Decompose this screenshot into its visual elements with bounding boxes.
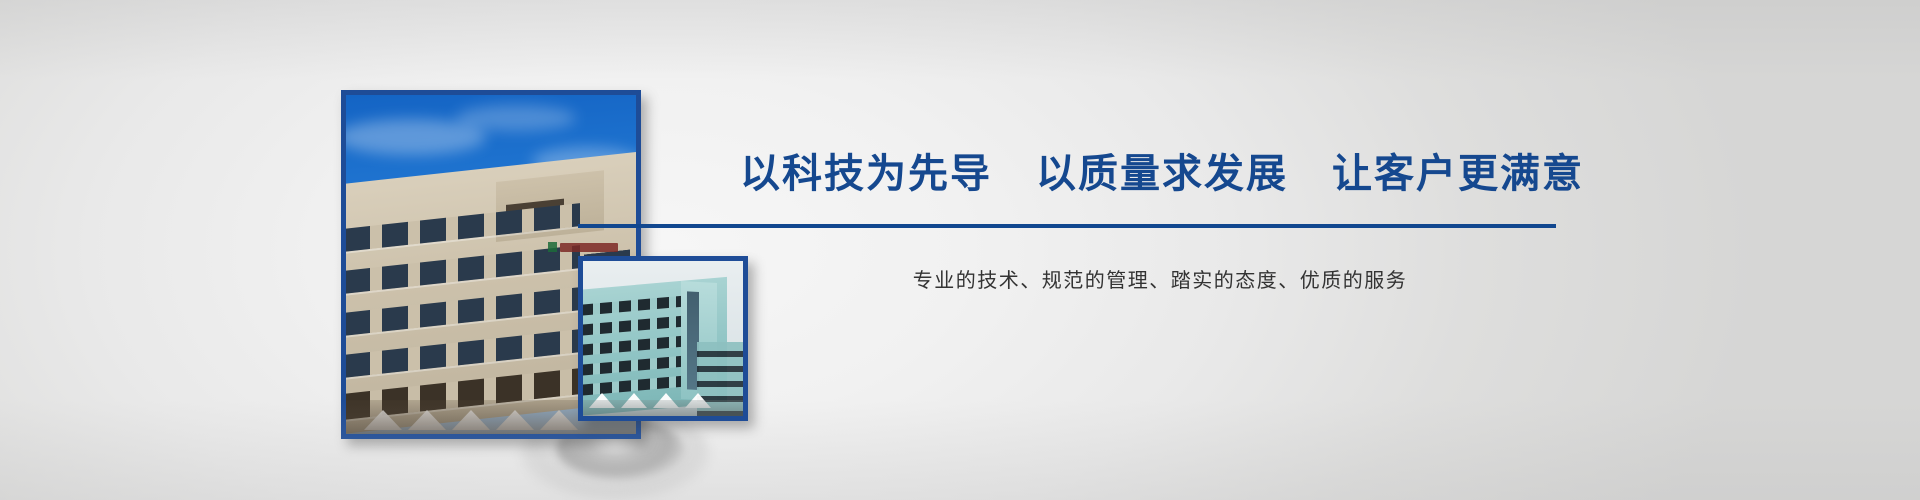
window-row: [346, 245, 580, 294]
headline-phrase-2: 以质量求发展: [1036, 152, 1288, 196]
foreground-ground: [583, 400, 743, 416]
photo-office-building-secondary[interactable]: [578, 256, 748, 421]
banner-headline: 以科技为先导以质量求发展让客户更满意: [700, 150, 1600, 198]
photo-collage: [0, 0, 820, 500]
banner-subtitle: 专业的技术、规范的管理、踏实的态度、优质的服务: [700, 264, 1600, 293]
building-signage: [560, 243, 618, 252]
window-row: [346, 329, 580, 378]
headline-divider: [578, 224, 1556, 228]
promo-banner: 以科技为先导以质量求发展让客户更满意 专业的技术、规范的管理、踏实的态度、优质的…: [0, 0, 1920, 500]
banner-text-block: 以科技为先导以质量求发展让客户更满意 专业的技术、规范的管理、踏实的态度、优质的…: [700, 150, 1600, 293]
window-row: [346, 203, 580, 252]
headline-phrase-1: 以科技为先导: [740, 152, 992, 196]
window-row: [346, 287, 580, 336]
photo-secondary-content: [583, 261, 743, 416]
headline-phrase-3: 让客户更满意: [1332, 152, 1584, 196]
cloud-shape: [456, 105, 576, 131]
